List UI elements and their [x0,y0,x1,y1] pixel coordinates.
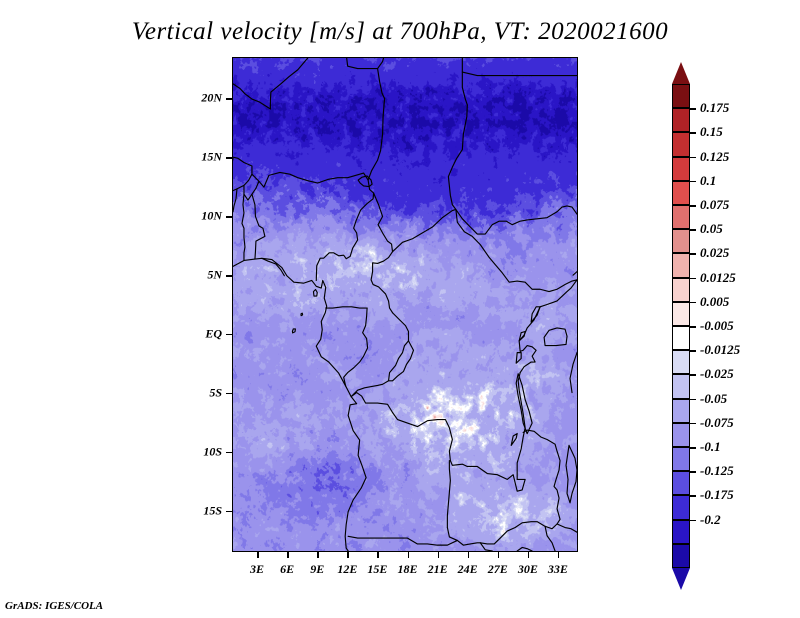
lon-tick [438,552,440,558]
lat-tick [226,452,232,454]
colorbar-tick [690,132,696,134]
colorbar-tick [690,157,696,159]
colorbar-label: -0.0125 [700,342,740,358]
colorbar-tick [690,350,696,352]
lat-tick [226,511,232,513]
colorbar-label: 0.025 [700,245,729,261]
colorbar-label: 0.05 [700,221,723,237]
colorbar-label: -0.2 [700,512,721,528]
colorbar-band[interactable] [672,253,690,277]
colorbar-band[interactable] [672,471,690,495]
colorbar-label: 0.005 [700,294,729,310]
colorbar-band[interactable] [672,520,690,544]
lon-tick [498,552,500,558]
lat-tick [226,393,232,395]
colorbar-band[interactable] [672,326,690,350]
lon-label-27E: 27E [488,562,508,577]
colorbar-band[interactable] [672,157,690,181]
lat-tick [226,98,232,100]
colorbar-band[interactable] [672,132,690,156]
lat-tick [226,275,232,277]
lat-label-10N: 10N [170,209,222,224]
colorbar-band[interactable] [672,181,690,205]
colorbar-label: 0.175 [700,100,729,116]
colorbar-tick [690,181,696,183]
lon-label-21E: 21E [428,562,448,577]
lat-tick [226,334,232,336]
colorbar-band[interactable] [672,423,690,447]
map-panel[interactable] [232,57,578,552]
country-borders-overlay [233,58,577,551]
colorbar-tick [690,229,696,231]
colorbar-band[interactable] [672,399,690,423]
lon-label-15E: 15E [367,562,387,577]
lon-label-30E: 30E [518,562,538,577]
lon-tick [377,552,379,558]
colorbar-band[interactable] [672,447,690,471]
colorbar-band[interactable] [672,84,690,108]
colorbar-band[interactable] [672,374,690,398]
colorbar-label: -0.005 [700,318,734,334]
lon-tick [468,552,470,558]
colorbar-band[interactable] [672,544,690,568]
colorbar-band[interactable] [672,278,690,302]
colorbar-arrow-max [672,62,690,84]
colorbar-label: 0.0125 [700,270,736,286]
colorbar-arrow-min [672,568,690,590]
lon-tick [347,552,349,558]
colorbar-label: 0.075 [700,197,729,213]
colorbar-label: 0.1 [700,173,716,189]
colorbar-tick [690,495,696,497]
lon-tick [287,552,289,558]
colorbar-tick [690,278,696,280]
colorbar-label: -0.125 [700,463,734,479]
colorbar-label: -0.1 [700,439,721,455]
lat-label-15N: 15N [170,150,222,165]
lat-label-EQ: EQ [170,326,222,341]
colorbar-band[interactable] [672,229,690,253]
lon-label-3E: 3E [250,562,264,577]
lon-label-33E: 33E [548,562,568,577]
colorbar-label: -0.025 [700,366,734,382]
lon-tick [257,552,259,558]
lon-label-18E: 18E [397,562,417,577]
colorbar-label: -0.075 [700,415,734,431]
grads-plot-page: Vertical velocity [m/s] at 700hPa, VT: 2… [0,0,800,618]
colorbar-tick [690,326,696,328]
colorbar-tick [690,423,696,425]
colorbar-tick [690,205,696,207]
colorbar-label: -0.175 [700,487,734,503]
colorbar-band[interactable] [672,205,690,229]
lon-tick [528,552,530,558]
colorbar-tick [690,302,696,304]
colorbar-label: 0.125 [700,149,729,165]
lat-label-5S: 5S [170,385,222,400]
colorbar-band[interactable] [672,302,690,326]
colorbar-label: 0.15 [700,124,723,140]
lon-label-6E: 6E [280,562,294,577]
colorbar-tick [690,471,696,473]
colorbar-tick [690,374,696,376]
lat-tick [226,216,232,218]
lon-label-9E: 9E [310,562,324,577]
page-title: Vertical velocity [m/s] at 700hPa, VT: 2… [0,18,800,46]
lon-tick [317,552,319,558]
colorbar-tick [690,399,696,401]
colorbar-tick [690,108,696,110]
colorbar-tick [690,253,696,255]
lon-tick [558,552,560,558]
lat-label-10S: 10S [170,444,222,459]
lon-label-12E: 12E [337,562,357,577]
lat-label-15S: 15S [170,503,222,518]
lat-label-20N: 20N [170,91,222,106]
colorbar-tick [690,520,696,522]
colorbar-band[interactable] [672,350,690,374]
lon-label-24E: 24E [458,562,478,577]
colorbar-band[interactable] [672,495,690,519]
lat-tick [226,157,232,159]
colorbar-tick [690,447,696,449]
colorbar-band[interactable] [672,108,690,132]
colorbar-label: -0.05 [700,391,727,407]
footer-credit: GrADS: IGES/COLA [5,600,103,612]
lat-label-5N: 5N [170,268,222,283]
lon-tick [408,552,410,558]
